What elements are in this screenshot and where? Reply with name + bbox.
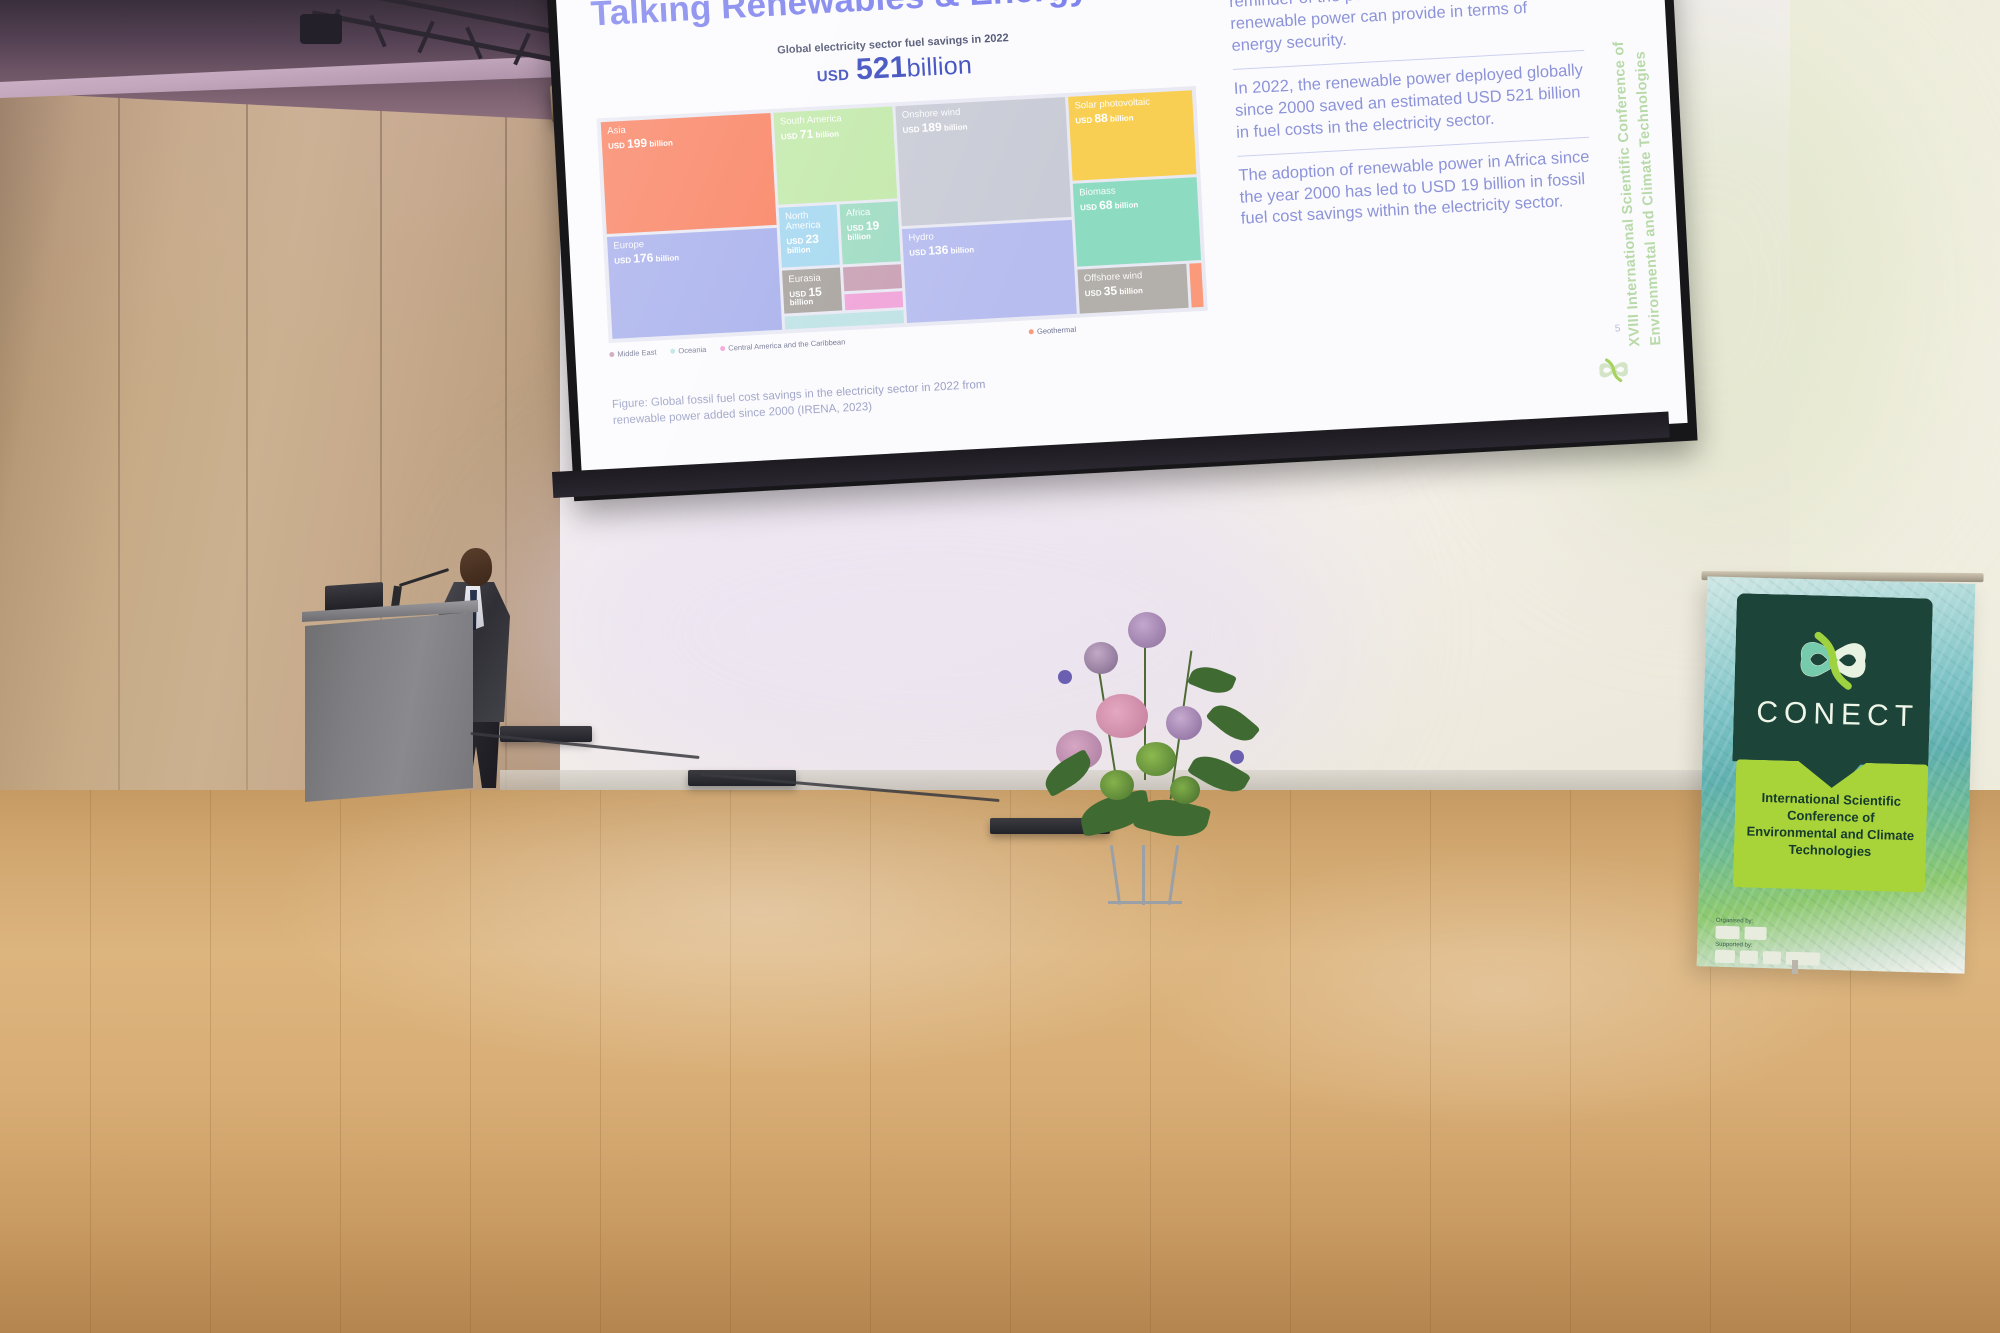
conect-butterfly-icon	[1786, 613, 1881, 708]
treemap-group-region: Asia USD 199 billion Europe USD 176 bill…	[601, 106, 904, 338]
legend-label: Central America and the Caribbean	[728, 337, 845, 352]
treemap-cell: Hydro USD 136 billion	[902, 220, 1077, 323]
conect-butterfly-icon	[1589, 346, 1637, 394]
treemap-cell: Asia USD 199 billion	[601, 113, 777, 234]
slide-page-number: 5	[1615, 323, 1621, 334]
treemap-cell	[844, 291, 903, 309]
slide-text-column: The fossil fuel price crisis of 2022 was…	[1227, 0, 1594, 242]
iese-logo	[1744, 927, 1766, 941]
treemap-cell: North America USD 23 billion	[779, 205, 840, 267]
treemap-cell: South America USD 71 billion	[773, 106, 897, 205]
conect-rollup-banner: CONECT International Scientific Conferen…	[1697, 576, 1976, 973]
conference-hall-photo: Talking Renewables & Energy Security Glo…	[0, 0, 2000, 1333]
legend-label: Middle East	[617, 348, 657, 359]
banner-subtitle: International Scientific Conference of E…	[1740, 789, 1922, 862]
banner-artwork: CONECT International Scientific Conferen…	[1697, 576, 1976, 973]
allium-flower	[1128, 612, 1166, 648]
legend-swatch	[609, 352, 614, 357]
cell-value: USD 19 billion	[846, 219, 893, 242]
legend-swatch	[720, 346, 725, 351]
total-number: 521	[855, 51, 907, 87]
total-suffix: billion	[906, 51, 973, 82]
banner-base-foot	[1792, 960, 1798, 974]
treemap-chart: Global electricity sector fuel savings i…	[593, 22, 1210, 384]
treemap-body: Asia USD 199 billion Europe USD 176 bill…	[597, 86, 1208, 343]
allium-flower	[1166, 706, 1202, 740]
council-logo	[1763, 951, 1781, 964]
treemap-group-technology: Onshore wind USD 189 billion Hydro USD 1…	[895, 90, 1203, 323]
presentation-slide: Talking Renewables & Energy Security Glo…	[554, 0, 1687, 483]
legend-item: Oceania	[670, 345, 706, 356]
total-prefix: USD	[816, 67, 849, 86]
treemap-cell: Onshore wind USD 189 billion	[895, 97, 1071, 226]
legend-item: Middle East	[609, 348, 657, 360]
slide-vertical-conference-title: XVIII International Scientific Conferenc…	[1604, 0, 1668, 347]
stage-spotlight	[300, 14, 342, 44]
treemap-cell: Solar photovoltaic USD 88 billion	[1068, 90, 1196, 181]
treemap-cell: Eurasia USD 15 billion	[782, 267, 842, 313]
treemap-cell	[785, 310, 905, 330]
nordic-council-logo	[1786, 952, 1820, 966]
cell-label: Africa	[846, 207, 892, 219]
treemap-cell: Africa USD 19 billion	[840, 202, 901, 264]
legend-swatch	[1029, 329, 1034, 334]
legend-label: Oceania	[678, 345, 706, 355]
rtu-logo	[1715, 926, 1739, 940]
treemap-cell	[843, 264, 902, 292]
cell-value: USD 35 billion	[1084, 281, 1182, 299]
pmlp-logo	[1715, 950, 1735, 964]
cell-label: Eurasia	[788, 272, 834, 284]
wall-light-tint	[0, 0, 600, 820]
legend-label: Geothermal	[1037, 325, 1077, 336]
legend-swatch	[670, 349, 675, 354]
treemap-cell: Biomass USD 68 billion	[1073, 177, 1201, 267]
cell-value: USD 15 billion	[789, 284, 836, 307]
figure-caption: Figure: Global fossil fuel cost savings …	[612, 375, 1043, 429]
speaker-head	[460, 548, 492, 586]
slide-paragraph: The adoption of renewable power in Afric…	[1237, 136, 1593, 242]
flower-stand	[1100, 845, 1190, 905]
hydrangea-flower	[1096, 694, 1148, 738]
cell-value: USD 23 billion	[786, 232, 833, 255]
banner-footer: Organised by: Supported by:	[1697, 917, 1966, 969]
cell-label: North America	[785, 210, 832, 232]
legend-item: Central America and the Caribbean	[720, 337, 845, 353]
allium-flower	[1084, 642, 1118, 674]
treemap-cell: Europe USD 176 billion	[607, 228, 782, 339]
legend-item: Geothermal	[1029, 325, 1077, 337]
lectern	[305, 612, 475, 802]
ministry-logo	[1740, 950, 1758, 963]
projection-screen: Talking Renewables & Energy Security Glo…	[540, 0, 1680, 520]
treemap-cell: Offshore wind USD 35 billion	[1077, 264, 1188, 314]
treemap-cell	[1189, 263, 1203, 308]
